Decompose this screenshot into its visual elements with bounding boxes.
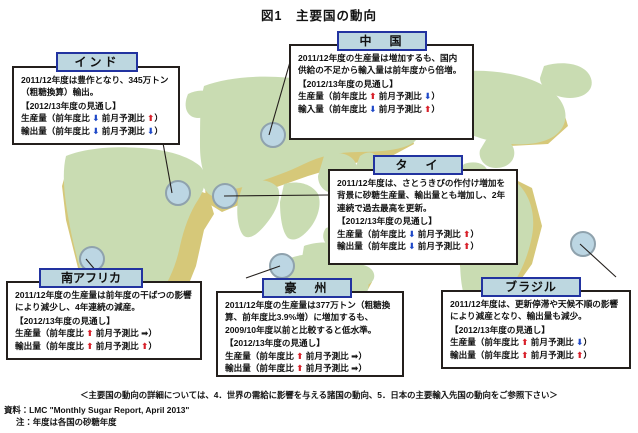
- note-line: 注：年度は各国の砂糖年度: [16, 416, 117, 428]
- thailand-exports-label: 輸出量: [337, 241, 363, 251]
- see-also-note: ＜主要国の動向の詳細については、4．世界の需給に影響を与える諸国の動向、5．日本…: [0, 389, 638, 401]
- arrow-down-icon: ⬇: [92, 112, 99, 124]
- arrow-up-icon: ⬆: [521, 349, 528, 361]
- arrow-up-icon: ⬆: [86, 340, 93, 352]
- marker-australia[interactable]: [269, 253, 295, 279]
- mom-label: 前月予測比: [418, 241, 461, 251]
- source-line: 資料：LMC "Monthly Sugar Report, April 2013…: [4, 404, 189, 416]
- arrow-up-icon: ⬆: [86, 327, 93, 339]
- paren-close: ）: [358, 351, 367, 361]
- infobox-australia: 2011/12年度の生産量は377万トン（粗糖換算、前年度比3.9%増）に増加す…: [216, 291, 404, 377]
- infobox-thailand-body: 2011/12年度は、さとうきびの作付け増加を背景に砂糖生産量、輸出量とも増加し…: [330, 171, 516, 258]
- mom-label: 前月予測比: [96, 341, 139, 351]
- yoy-label: 前年度比: [55, 126, 89, 136]
- australia-lede: 2011/12年度の生産量は377万トン（粗糖換算、前年度比3.9%増）に増加す…: [225, 299, 395, 336]
- paren-close: ）: [470, 229, 479, 239]
- infobox-india: 2011/12年度は豊作となり、345万トン（粗糖換算）輸出。 【2012/13…: [12, 66, 180, 145]
- paren-close: ）: [148, 341, 157, 351]
- china-metric-production: 生産量（前年度比 ⬆ 前月予測比 ⬇）: [298, 90, 465, 102]
- paren-close: ）: [583, 350, 592, 360]
- infobox-south-africa-body: 2011/12年度の生産量は前年度の干ばつの影響により減少し、4年連続の減産。 …: [8, 283, 200, 357]
- paren-close: ）: [431, 104, 440, 114]
- china-outlook: 【2012/13年度の見通し】: [298, 78, 465, 90]
- paren-close: ）: [583, 337, 592, 347]
- brazil-production-label: 生産量: [450, 337, 476, 347]
- yoy-label: 前年度比: [371, 241, 405, 251]
- badge-australia[interactable]: 豪 州: [262, 278, 352, 298]
- yoy-label: 前年度比: [371, 229, 405, 239]
- china-imports-label: 輸入量: [298, 104, 324, 114]
- australia-metric-exports: 輸出量（前年度比 ⬆ 前月予測比 ➡）: [225, 362, 395, 374]
- arrow-up-icon: ⬆: [296, 362, 303, 374]
- marker-thailand[interactable]: [212, 183, 238, 209]
- infobox-china: 2011/12年度の生産量は増加するも、国内供給の不足から輸入量は前年度から倍増…: [289, 44, 474, 140]
- yoy-label: 前年度比: [259, 363, 293, 373]
- arrow-down-icon: ⬇: [92, 125, 99, 137]
- china-production-label: 生産量: [298, 91, 324, 101]
- badge-china[interactable]: 中 国: [337, 31, 427, 51]
- australia-exports-label: 輸出量: [225, 363, 251, 373]
- yoy-label: 前年度比: [332, 104, 366, 114]
- mom-label: 前月予測比: [96, 328, 139, 338]
- arrow-up-icon: ⬆: [296, 350, 303, 362]
- figure-page: 図1 主要国の動向: [0, 0, 638, 433]
- badge-thailand[interactable]: タ イ: [373, 155, 463, 175]
- paren-close: ）: [431, 91, 440, 101]
- badge-india[interactable]: インド: [56, 52, 138, 72]
- arrow-down-icon: ⬇: [408, 228, 415, 240]
- south-africa-exports-label: 輸出量: [15, 341, 41, 351]
- thailand-lede: 2011/12年度は、さとうきびの作付け増加を背景に砂糖生産量、輸出量とも増加し…: [337, 177, 509, 214]
- south-africa-lede: 2011/12年度の生産量は前年度の干ばつの影響により減少し、4年連続の減産。: [15, 289, 193, 314]
- marker-brazil[interactable]: [570, 231, 596, 257]
- infobox-thailand: 2011/12年度は、さとうきびの作付け増加を背景に砂糖生産量、輸出量とも増加し…: [328, 169, 518, 265]
- china-lede: 2011/12年度の生産量は増加するも、国内供給の不足から輸入量は前年度から倍増…: [298, 52, 465, 77]
- mom-label: 前月予測比: [379, 91, 422, 101]
- yoy-label: 前年度比: [49, 328, 83, 338]
- paren-close: ）: [154, 113, 163, 123]
- australia-production-label: 生産量: [225, 351, 251, 361]
- brazil-metric-exports: 輸出量（前年度比 ⬆ 前月予測比 ⬆）: [450, 349, 622, 361]
- south-africa-outlook: 【2012/13年度の見通し】: [15, 315, 193, 327]
- yoy-label: 前年度比: [49, 341, 83, 351]
- yoy-label: 前年度比: [484, 337, 518, 347]
- brazil-outlook: 【2012/13年度の見通し】: [450, 324, 622, 336]
- mom-label: 前月予測比: [102, 126, 145, 136]
- china-metric-imports: 輸入量（前年度比 ⬇ 前月予測比 ⬆）: [298, 103, 465, 115]
- mom-label: 前月予測比: [306, 363, 349, 373]
- brazil-exports-label: 輸出量: [450, 350, 476, 360]
- marker-india[interactable]: [165, 180, 191, 206]
- mom-label: 前月予測比: [418, 229, 461, 239]
- paren-close: ）: [470, 241, 479, 251]
- badge-south-africa[interactable]: 南アフリカ: [39, 268, 143, 288]
- infobox-south-africa: 2011/12年度の生産量は前年度の干ばつの影響により減少し、4年連続の減産。 …: [6, 281, 202, 360]
- yoy-label: 前年度比: [259, 351, 293, 361]
- badge-brazil[interactable]: ブラジル: [481, 277, 581, 297]
- infobox-brazil: 2011/12年度は、更新停滞や天候不順の影響により減産となり、輸出量も減少。 …: [441, 290, 631, 369]
- paren-close: ）: [358, 363, 367, 373]
- india-production-label: 生産量: [21, 113, 47, 123]
- mom-label: 前月予測比: [531, 350, 574, 360]
- thailand-outlook: 【2012/13年度の見通し】: [337, 215, 509, 227]
- infobox-china-body: 2011/12年度の生産量は増加するも、国内供給の不足から輸入量は前年度から倍増…: [291, 46, 472, 120]
- thailand-production-label: 生産量: [337, 229, 363, 239]
- mom-label: 前月予測比: [531, 337, 574, 347]
- india-lede: 2011/12年度は豊作となり、345万トン（粗糖換算）輸出。: [21, 74, 171, 99]
- arrow-up-icon: ⬆: [369, 90, 376, 102]
- australia-outlook: 【2012/13年度の見通し】: [225, 337, 395, 349]
- mom-label: 前月予測比: [379, 104, 422, 114]
- india-exports-label: 輸出量: [21, 126, 47, 136]
- thailand-metric-exports: 輸出量（前年度比 ⬇ 前月予測比 ⬆）: [337, 240, 509, 252]
- mom-label: 前月予測比: [102, 113, 145, 123]
- infobox-brazil-body: 2011/12年度は、更新停滞や天候不順の影響により減産となり、輸出量も減少。 …: [443, 292, 629, 366]
- yoy-label: 前年度比: [332, 91, 366, 101]
- paren-close: ）: [154, 126, 163, 136]
- thailand-metric-production: 生産量（前年度比 ⬇ 前月予測比 ⬆）: [337, 228, 509, 240]
- south-africa-metric-production: 生産量（前年度比 ⬆ 前月予測比 ➡）: [15, 327, 193, 339]
- page-title: 図1 主要国の動向: [0, 5, 638, 24]
- brazil-metric-production: 生産量（前年度比 ⬆ 前月予測比 ⬇）: [450, 336, 622, 348]
- paren-close: ）: [148, 328, 157, 338]
- australia-metric-production: 生産量（前年度比 ⬆ 前月予測比 ➡）: [225, 350, 395, 362]
- marker-china[interactable]: [260, 122, 286, 148]
- brazil-lede: 2011/12年度は、更新停滞や天候不順の影響により減産となり、輸出量も減少。: [450, 298, 622, 323]
- infobox-australia-body: 2011/12年度の生産量は377万トン（粗糖換算、前年度比3.9%増）に増加す…: [218, 293, 402, 380]
- south-africa-production-label: 生産量: [15, 328, 41, 338]
- infobox-india-body: 2011/12年度は豊作となり、345万トン（粗糖換算）輸出。 【2012/13…: [14, 68, 178, 142]
- india-outlook: 【2012/13年度の見通し】: [21, 100, 171, 112]
- yoy-label: 前年度比: [484, 350, 518, 360]
- india-metric-production: 生産量（前年度比 ⬇ 前月予測比 ⬆）: [21, 112, 171, 124]
- yoy-label: 前年度比: [55, 113, 89, 123]
- india-metric-exports: 輸出量（前年度比 ⬇ 前月予測比 ⬇）: [21, 125, 171, 137]
- south-africa-metric-exports: 輸出量（前年度比 ⬆ 前月予測比 ⬆）: [15, 340, 193, 352]
- mom-label: 前月予測比: [306, 351, 349, 361]
- arrow-down-icon: ⬇: [408, 240, 415, 252]
- arrow-up-icon: ⬆: [521, 336, 528, 348]
- arrow-down-icon: ⬇: [369, 103, 376, 115]
